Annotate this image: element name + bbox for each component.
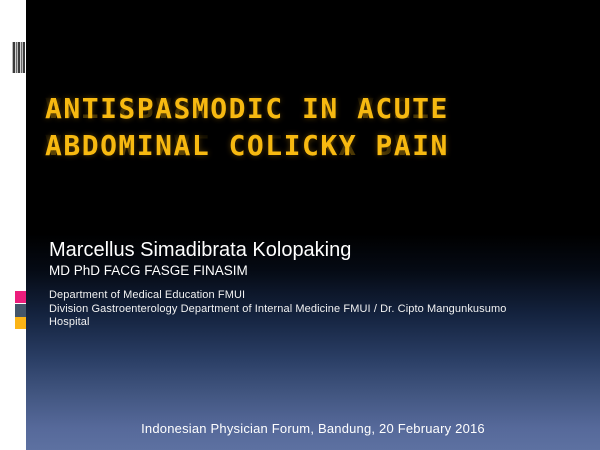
chip-pink-icon xyxy=(15,291,26,303)
author-block: Marcellus Simadibrata Kolopaking MD PhD … xyxy=(49,238,589,279)
gray-stripes-ornament-icon xyxy=(12,42,25,73)
affiliation-line-3: Hospital xyxy=(49,316,584,330)
slide-background xyxy=(26,0,600,450)
author-name: Marcellus Simadibrata Kolopaking xyxy=(49,238,589,262)
title-line-2-wrapper: ABDOMINAL COLICKY PAIN ABDOMINAL COLICKY… xyxy=(45,129,575,166)
title-line-2: ABDOMINAL COLICKY PAIN xyxy=(45,129,575,163)
title-line-1: ANTISPASMODIC IN ACUTE xyxy=(45,92,575,126)
presentation-slide: ANTISPASMODIC IN ACUTE ANTISPASMODIC IN … xyxy=(0,0,600,450)
affiliation-line-1: Department of Medical Education FMUI xyxy=(49,289,584,303)
affiliation-line-2: Division Gastroenterology Department of … xyxy=(49,303,584,317)
slide-footer: Indonesian Physician Forum, Bandung, 20 … xyxy=(26,420,600,438)
title-line-1-wrapper: ANTISPASMODIC IN ACUTE ANTISPASMODIC IN … xyxy=(45,92,575,129)
slide-title: ANTISPASMODIC IN ACUTE ANTISPASMODIC IN … xyxy=(45,92,575,166)
affiliation-block: Department of Medical Education FMUI Div… xyxy=(49,289,584,330)
author-credentials: MD PhD FACG FASGE FINASIM xyxy=(49,262,589,279)
footer-text: Indonesian Physician Forum, Bandung, 20 … xyxy=(141,420,485,437)
chip-slate-icon xyxy=(15,304,26,317)
chip-amber-icon xyxy=(15,317,26,329)
